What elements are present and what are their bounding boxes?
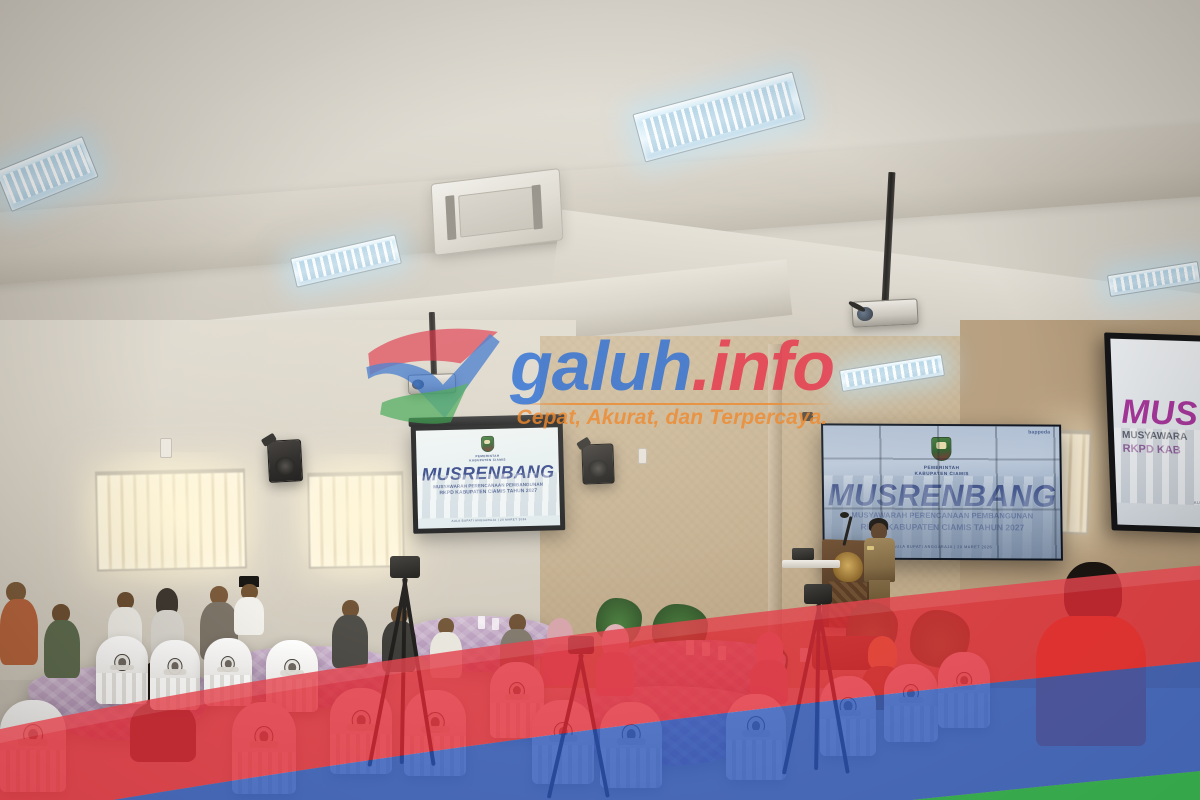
attendee-13-orange-polo — [1036, 562, 1146, 742]
chair-crest-icon — [168, 658, 183, 675]
glass-5 — [718, 646, 726, 660]
wall-speaker-left — [267, 439, 303, 483]
banquet-chair-4[interactable] — [266, 640, 318, 712]
edge-monitor-surface: MUS MUSYAWARA RKPD KAB AUL — [1110, 339, 1200, 528]
wall-switch-plate-2[interactable] — [638, 448, 647, 464]
ceiling-projector — [851, 298, 918, 327]
edge-monitor: MUS MUSYAWARA RKPD KAB AUL — [1104, 332, 1200, 533]
attendee-15 — [44, 604, 80, 676]
banquet-chair-10[interactable] — [726, 694, 786, 780]
chair-crest-icon — [221, 656, 235, 672]
banquet-chair-14[interactable] — [0, 700, 66, 792]
attendee-11-hijab-pink — [750, 632, 788, 702]
video-camera-icon-1 — [390, 556, 420, 578]
screen-footer: AULA BUPATI ANGGARAJA | 20 MARET 2026 — [451, 517, 526, 523]
glass-1 — [478, 616, 485, 629]
banquet-chair-15[interactable] — [232, 702, 296, 794]
attendee-14 — [0, 582, 38, 664]
speaker-name-tag — [867, 546, 874, 550]
projection-screen: PEMERINTAH KABUPATEN CIAMIS MUSRENBANG M… — [411, 422, 566, 534]
screen-photo-backdrop — [417, 472, 560, 519]
wall-switch-plate[interactable] — [160, 438, 172, 458]
camera-tripod-1[interactable] — [376, 556, 436, 776]
chair-crest-icon — [509, 682, 525, 700]
chair-crest-icon — [254, 726, 273, 747]
chair-crest-icon — [622, 724, 641, 745]
banquet-chair-2[interactable] — [150, 640, 200, 710]
window-right — [307, 471, 405, 569]
window-left — [95, 468, 247, 571]
attendee-5 — [332, 600, 368, 666]
event-photo: PEMERINTAH KABUPATEN CIAMIS MUSRENBANG M… — [0, 0, 1200, 800]
microphone-icon — [840, 512, 849, 518]
video-camera-icon-3 — [568, 636, 594, 654]
wall-speaker-center — [581, 443, 614, 484]
led-brand-bappeda: bappeda — [1028, 429, 1050, 435]
smoke-detector-icon — [594, 350, 606, 357]
attendee-4-peci — [234, 576, 264, 632]
chair-crest-icon — [284, 659, 300, 677]
chair-crest-icon — [352, 710, 371, 731]
glass-3 — [686, 640, 694, 655]
banquet-chair-13[interactable] — [938, 652, 990, 728]
glass-2 — [492, 618, 499, 630]
camera-tripod-3[interactable] — [556, 636, 610, 800]
glass-4 — [702, 642, 710, 656]
banquet-chair-1[interactable] — [96, 636, 148, 704]
led-footer: AULA BUPATI ANGGARAJA | 20 MARET 2026 — [893, 545, 992, 550]
video-camera-icon-2 — [804, 584, 832, 604]
projection-screen-surface: PEMERINTAH KABUPATEN CIAMIS MUSRENBANG M… — [416, 427, 560, 528]
edge-photo-backdrop — [1114, 428, 1200, 505]
chair-crest-icon — [23, 724, 43, 746]
banquet-chair-3[interactable] — [204, 638, 252, 706]
chair-crest-icon — [747, 716, 765, 736]
led-gov-line-1: PEMERINTAH — [924, 465, 960, 470]
chair-crest-icon — [114, 654, 130, 672]
av-table — [782, 560, 840, 568]
wall-sensor-icon — [802, 412, 813, 421]
wall-corner-edge — [768, 344, 782, 680]
edge-footer: AUL — [1194, 500, 1200, 505]
ceiling-projector-left — [408, 373, 457, 395]
speaker-uniform — [864, 538, 895, 582]
chair-crest-icon — [956, 672, 972, 690]
edge-title: MUS — [1121, 397, 1199, 430]
banquet-chair-12[interactable] — [884, 664, 938, 742]
chair-crest-icon — [903, 684, 919, 702]
projector-lens-icon-left — [412, 379, 424, 390]
camera-tripod-2[interactable] — [792, 584, 848, 784]
led-crest-icon — [931, 437, 951, 461]
ciamis-regency-crest-icon — [480, 436, 493, 452]
av-mixer-icon — [792, 548, 814, 560]
